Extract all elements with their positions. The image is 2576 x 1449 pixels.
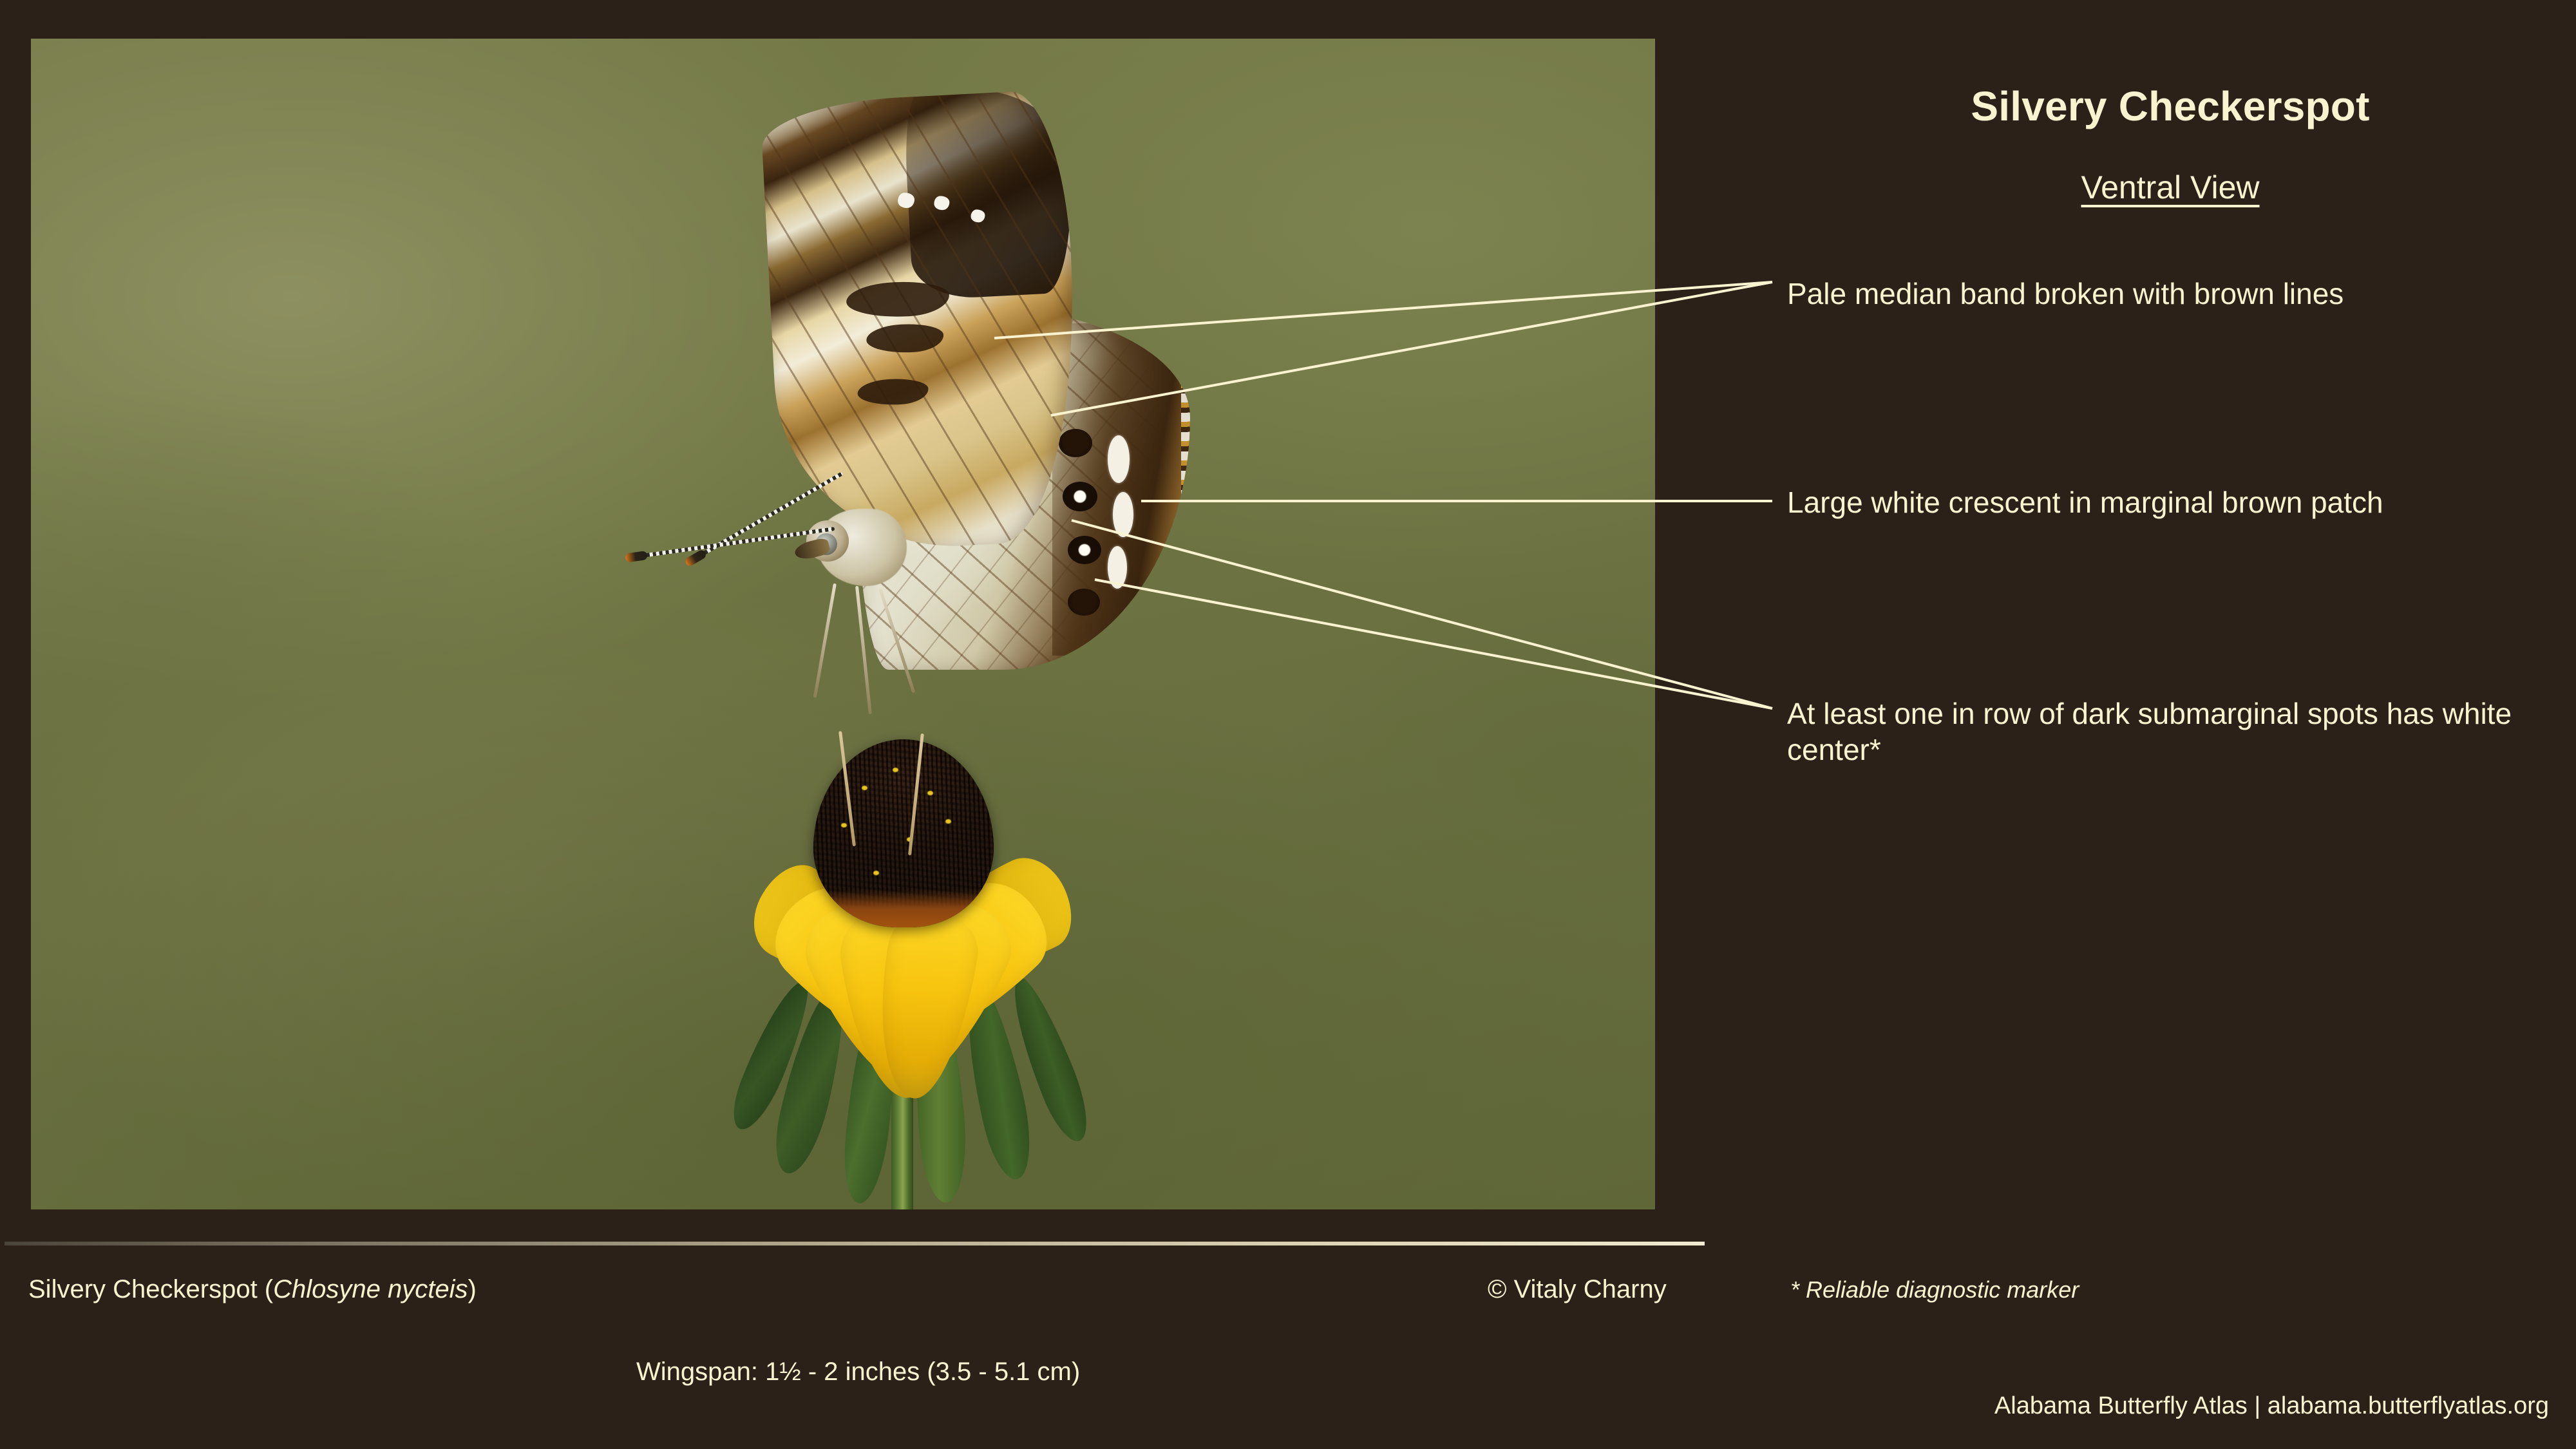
footer-divider [5, 1242, 1705, 1245]
view-subtitle: Ventral View [1784, 169, 2557, 206]
white-crescent [1113, 492, 1133, 537]
white-crescent [1108, 435, 1130, 483]
butterfly-photo [31, 39, 1655, 1209]
page-title: Silvery Checkerspot [1784, 82, 2557, 130]
view-subtitle-label: Ventral View [2081, 169, 2259, 205]
pollen-grain [945, 819, 951, 824]
annotation-pale-median-band: Pale median band broken with brown lines [1787, 276, 2528, 312]
caption-scientific-name: Chlosyne nycteis [273, 1275, 468, 1303]
forewing-ventral [760, 89, 1086, 555]
pollen-grain [841, 823, 847, 828]
caption-common-name: Silvery Checkerspot ( [28, 1275, 273, 1303]
antenna-club [684, 549, 707, 567]
diagnostic-marker-note: * Reliable diagnostic marker [1790, 1276, 2079, 1303]
annotation-white-crescent: Large white crescent in marginal brown p… [1787, 484, 2528, 520]
submarginal-spot [1068, 589, 1100, 616]
atlas-attribution: Alabama Butterfly Atlas | alabama.butter… [1994, 1392, 2549, 1420]
caption-close-paren: ) [468, 1275, 477, 1303]
leg [813, 583, 837, 698]
wing-venation [760, 89, 1086, 555]
photo-caption: Silvery Checkerspot (Chlosyne nycteis) [28, 1275, 477, 1304]
annotation-white-centered-spot: At least one in row of dark submarginal … [1787, 696, 2528, 768]
photo-credit: © Vitaly Charny [1488, 1275, 1667, 1304]
butterfly [662, 97, 1203, 792]
wingspan-text: Wingspan: 1½ - 2 inches (3.5 - 5.1 cm) [636, 1358, 1080, 1387]
wing-margin [1181, 316, 1190, 663]
pollen-grain [873, 871, 879, 875]
white-crescent [1108, 546, 1127, 589]
slide-canvas: Silvery Checkerspot Ventral View Pale me… [0, 0, 2576, 1449]
submarginal-spot-white-center [1068, 536, 1101, 564]
